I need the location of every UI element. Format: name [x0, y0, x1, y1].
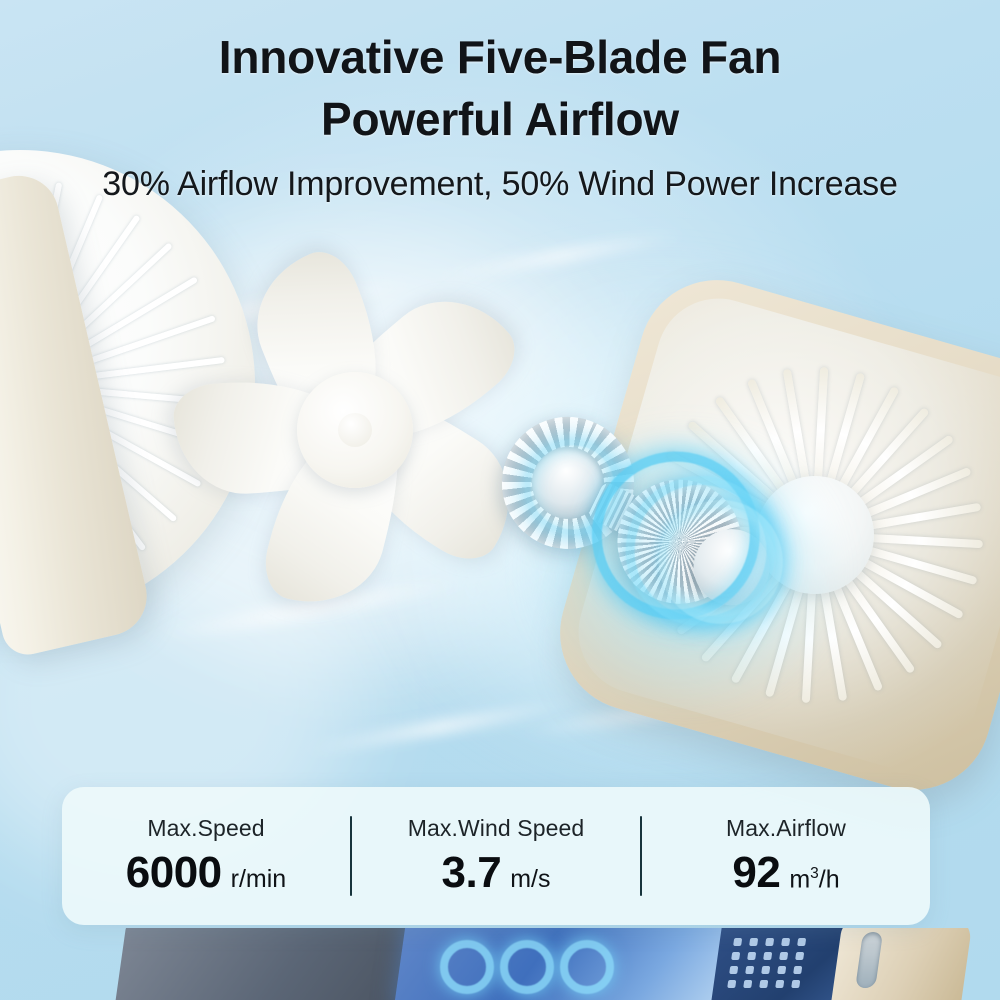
headline-block: Innovative Five-Blade Fan Powerful Airfl… [0, 0, 1000, 206]
board-chip [761, 966, 770, 974]
spec-value: 92 [732, 847, 780, 899]
board-chip [791, 980, 800, 988]
airflow-streak [431, 228, 689, 285]
board-chip [779, 952, 788, 960]
device-handle [829, 928, 973, 1000]
spec-unit-suffix: /h [819, 865, 840, 893]
spec-value-row: 92 m3/h [732, 847, 839, 899]
spec-item-max-speed: Max.Speed 6000 r/min [62, 787, 350, 925]
board-chip [795, 952, 804, 960]
handle-notch [855, 932, 883, 988]
spec-value-row: 3.7 m/s [442, 847, 551, 899]
bottom-device-strip [0, 928, 1000, 1000]
spec-unit: m/s [510, 863, 550, 895]
board-chip [743, 980, 752, 988]
board-chip [729, 966, 738, 974]
board-chip [731, 952, 740, 960]
spec-label: Max.Speed [147, 813, 264, 843]
spec-card: Max.Speed 6000 r/min Max.Wind Speed 3.7 … [62, 787, 930, 925]
spec-unit-superscript: 3 [810, 865, 819, 882]
spec-unit-prefix: m [789, 865, 810, 893]
board-chip [781, 938, 790, 946]
board-chip [759, 980, 768, 988]
board-chip [793, 966, 802, 974]
spec-item-max-airflow: Max.Airflow 92 m3/h [642, 787, 930, 925]
spec-value-row: 6000 r/min [126, 847, 286, 899]
battery-coil [560, 940, 614, 994]
board-chip [775, 980, 784, 988]
spec-unit: m3/h [789, 858, 839, 895]
marketing-banner: Innovative Five-Blade Fan Powerful Airfl… [0, 0, 1000, 1000]
battery-coil [500, 940, 554, 994]
spec-item-max-wind-speed: Max.Wind Speed 3.7 m/s [352, 787, 640, 925]
spec-value: 3.7 [442, 847, 502, 899]
spec-label: Max.Wind Speed [408, 813, 585, 843]
board-chip [763, 952, 772, 960]
board-chip [747, 952, 756, 960]
subtitle: 30% Airflow Improvement, 50% Wind Power … [0, 162, 1000, 206]
spec-label: Max.Airflow [726, 813, 846, 843]
rotor-center-nub [338, 413, 372, 447]
spec-unit: r/min [231, 863, 287, 895]
board-chip [797, 938, 806, 946]
board-chip [765, 938, 774, 946]
title-line-2: Powerful Airflow [0, 88, 1000, 150]
board-chip [745, 966, 754, 974]
board-chip [749, 938, 758, 946]
title-line-1: Innovative Five-Blade Fan [0, 26, 1000, 88]
board-chip [733, 938, 742, 946]
device-dark-body [113, 928, 426, 1000]
battery-coil [440, 940, 494, 994]
spec-value: 6000 [126, 847, 222, 899]
board-chip [727, 980, 736, 988]
board-chip [777, 966, 786, 974]
